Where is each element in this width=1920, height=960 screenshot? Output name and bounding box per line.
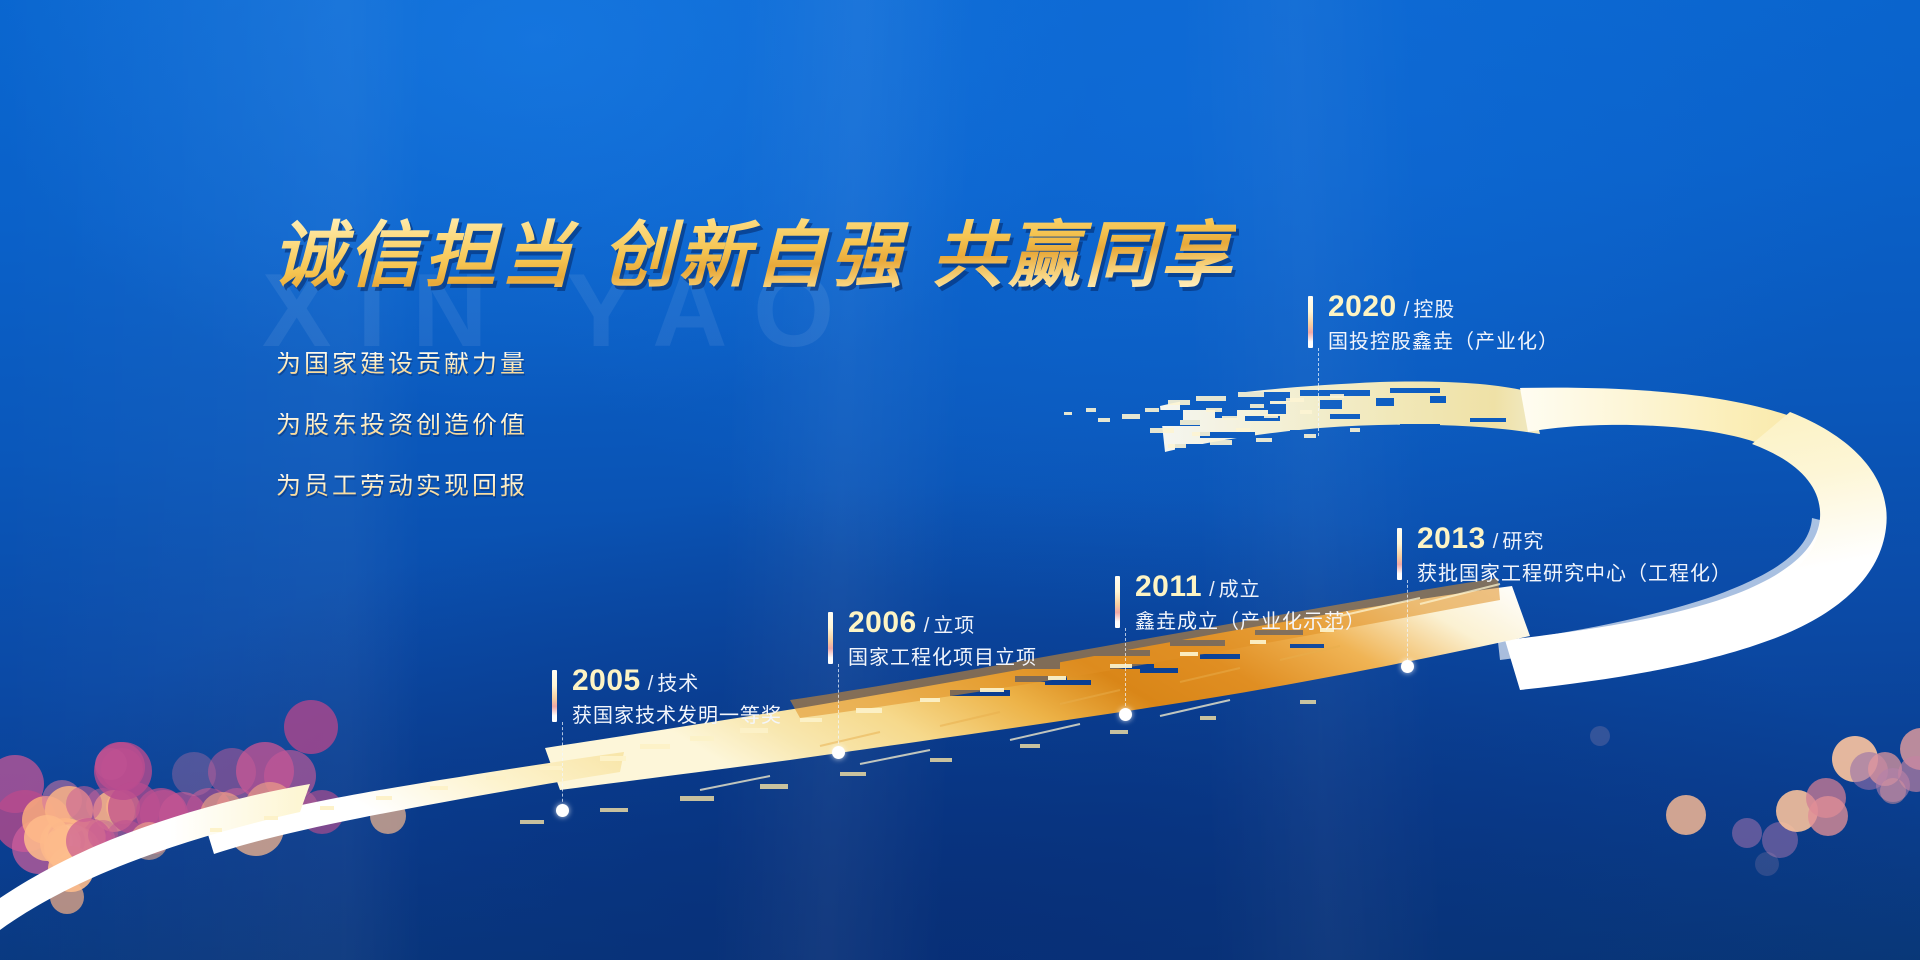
connector-line-2006 — [838, 664, 840, 754]
bokeh-dot — [370, 798, 406, 834]
bokeh-dot — [66, 818, 112, 864]
bokeh-dot — [22, 796, 70, 844]
bokeh-dot — [47, 820, 81, 854]
bokeh-dot — [94, 742, 152, 800]
milestone-tag: 控股 — [1413, 299, 1455, 321]
subtitle-list: 为国家建设贡献力量 为股东投资创造价值 为员工劳动实现回报 — [276, 352, 528, 535]
milestone-tag: 技术 — [657, 673, 699, 695]
bokeh-dot — [1732, 818, 1762, 848]
connector-line-2011 — [1125, 628, 1127, 716]
bokeh-dot — [24, 815, 70, 861]
connector-line-2013 — [1407, 580, 1409, 666]
bokeh-dot — [1590, 726, 1610, 746]
bokeh-dot — [64, 820, 106, 862]
milestone-heading: 2013/研究 — [1417, 524, 1544, 554]
bokeh-dot — [200, 792, 246, 838]
bokeh-dot — [1880, 778, 1906, 804]
poster-canvas: XIN YAO 诚信担当创新自强共赢同享 为国家建设贡献力量 为股东投资创造价值… — [0, 0, 1920, 960]
bokeh-dot — [284, 790, 318, 824]
bokeh-dot — [0, 790, 56, 852]
milestone-description: 国家工程化项目立项 — [848, 648, 1037, 668]
connector-line-2020 — [1318, 348, 1320, 436]
milestone-tag: 研究 — [1502, 531, 1544, 553]
milestone-heading: 2011/成立 — [1135, 572, 1261, 602]
bokeh-dot — [44, 830, 80, 866]
bokeh-dot — [49, 826, 101, 878]
bokeh-dot — [1898, 756, 1920, 792]
page-title: 诚信担当创新自强共赢同享 — [272, 196, 1236, 301]
timeline-dot-2005 — [556, 804, 569, 817]
bokeh-dot — [95, 742, 145, 792]
headline-part-1: 诚信担当 — [272, 216, 576, 296]
headline-part-3: 共赢同享 — [932, 216, 1236, 296]
separator-slash: / — [648, 673, 654, 695]
bokeh-dot — [172, 752, 216, 796]
milestone-heading: 2020/控股 — [1328, 292, 1455, 322]
timeline-dot-2013 — [1401, 660, 1414, 673]
bokeh-dot — [1900, 728, 1920, 770]
headline-part-2: 创新自强 — [602, 216, 906, 296]
accent-bar — [1115, 576, 1120, 628]
bokeh-dot — [40, 818, 90, 868]
accent-bar — [552, 670, 557, 722]
bokeh-dot — [44, 818, 88, 862]
milestone-heading: 2005/技术 — [572, 666, 699, 696]
bokeh-dot — [48, 822, 76, 850]
bokeh-dot — [1755, 852, 1779, 876]
accent-bar — [1308, 296, 1313, 348]
bokeh-dot — [42, 780, 82, 820]
bokeh-dot — [45, 786, 93, 834]
bokeh-dot — [140, 790, 188, 838]
bokeh-dot — [44, 830, 72, 858]
bokeh-dot — [0, 755, 44, 813]
bokeh-dot — [70, 820, 116, 866]
bokeh-dot — [1808, 796, 1848, 836]
milestone-description: 国投控股鑫垚（产业化） — [1328, 332, 1559, 352]
bokeh-dot — [264, 750, 316, 802]
bokeh-dot — [66, 818, 106, 858]
bokeh-dot — [95, 748, 127, 780]
ribbon-texture-strokes-light — [700, 584, 1500, 790]
bokeh-dot — [50, 880, 84, 914]
separator-slash: / — [1493, 531, 1499, 553]
milestone-year: 2011 — [1135, 570, 1202, 603]
bokeh-dot — [256, 792, 296, 832]
timeline-dot-2006 — [832, 746, 845, 759]
bokeh-dot — [130, 822, 168, 860]
bokeh-dot — [140, 824, 170, 854]
accent-bar — [1397, 528, 1402, 580]
bokeh-dot — [105, 820, 147, 862]
bokeh-dot — [300, 790, 344, 834]
ribbon-white-tail — [0, 784, 310, 930]
bokeh-dot — [12, 820, 66, 874]
subtitle-line: 为员工劳动实现回报 — [276, 474, 528, 499]
subtitle-line: 为股东投资创造价值 — [276, 413, 528, 438]
bokeh-dot — [216, 788, 258, 830]
ribbon-top-band — [1520, 388, 1866, 484]
bokeh-dot — [86, 788, 120, 822]
connector-line-2005 — [562, 722, 564, 812]
bokeh-dot — [186, 788, 232, 834]
ribbon-hairpin — [1505, 412, 1887, 690]
bokeh-dot — [1876, 768, 1910, 802]
bokeh-dot — [228, 800, 284, 856]
bokeh-dot — [93, 790, 135, 832]
bokeh-dot — [136, 788, 186, 838]
bokeh-dot — [1762, 822, 1798, 858]
milestone-year: 2006 — [848, 606, 917, 639]
separator-slash: / — [1404, 299, 1410, 321]
timeline-dot-2011 — [1119, 708, 1132, 721]
bokeh-dot — [1850, 752, 1888, 790]
bokeh-dot — [88, 820, 118, 850]
subtitle-line: 为国家建设贡献力量 — [276, 352, 528, 377]
bokeh-dot — [47, 822, 85, 860]
bokeh-dot — [1868, 752, 1902, 786]
bokeh-dot — [108, 782, 160, 834]
milestone-year: 2013 — [1417, 522, 1486, 555]
bokeh-dot — [47, 825, 81, 859]
separator-slash: / — [924, 615, 930, 637]
bokeh-dot — [49, 824, 93, 868]
bokeh-dot — [159, 792, 207, 840]
milestone-description: 鑫垚成立（产业化示范） — [1135, 612, 1366, 632]
bokeh-dot — [284, 700, 338, 754]
ribbon-splatter-head — [1064, 381, 1540, 452]
bokeh-dot — [208, 748, 256, 796]
bokeh-dot — [47, 829, 73, 855]
bokeh-dot — [245, 782, 295, 832]
bokeh-dot — [1832, 736, 1878, 782]
ribbon-speckles-lower — [210, 628, 1334, 832]
milestone-description: 获国家技术发明一等奖 — [572, 706, 782, 726]
bokeh-dot — [106, 790, 140, 824]
milestone-year: 2005 — [572, 664, 641, 697]
milestone-heading: 2006/立项 — [848, 608, 975, 638]
bokeh-dot — [101, 748, 143, 790]
bokeh-dot — [236, 742, 294, 800]
bokeh-dot — [1806, 778, 1846, 818]
bokeh-dot — [48, 846, 94, 892]
bokeh-dot — [1776, 790, 1818, 832]
ribbon-hairpin-highlight — [1498, 518, 1820, 660]
accent-bar — [828, 612, 833, 664]
milestone-year: 2020 — [1328, 290, 1397, 323]
bokeh-dot — [66, 786, 102, 822]
separator-slash: / — [1209, 579, 1215, 601]
bokeh-dot — [1666, 795, 1706, 835]
milestone-description: 获批国家工程研究中心（工程化） — [1417, 564, 1732, 584]
milestone-tag: 立项 — [933, 615, 975, 637]
milestone-tag: 成立 — [1219, 579, 1261, 601]
